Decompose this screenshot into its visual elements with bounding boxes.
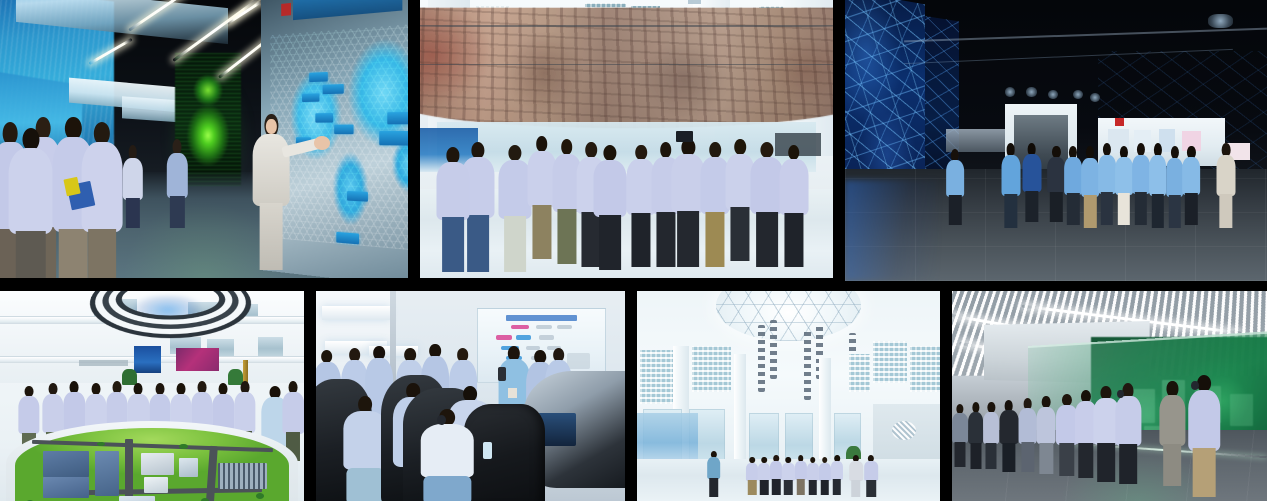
visitor [946,149,964,225]
audio-guide-headset [437,415,446,426]
visitor [864,455,878,497]
tour-guide [1216,143,1235,227]
screen-title-bar [506,315,578,320]
visitor [1022,143,1041,222]
visitor [819,457,831,495]
photo-bottom-1[interactable] [0,291,304,501]
visitor [831,455,843,495]
pillar [734,354,746,476]
visitor [593,145,626,270]
visitor [968,402,984,469]
visitor [1001,143,1020,227]
blue-display-banner [134,346,161,373]
visitor [1037,396,1056,474]
visitor [779,145,808,267]
visitor [795,455,807,495]
visitor [1115,146,1133,225]
audio-guide-headset [1191,381,1199,389]
ceiling-projector [1208,14,1233,28]
model-solar-field [218,463,267,489]
visitor [782,457,794,495]
visitor [1132,143,1150,224]
crystal-chandelier [758,325,765,392]
model-building [144,477,169,493]
model-building [119,496,155,501]
visitor [1188,375,1220,497]
exit-sign [1115,118,1123,126]
photo-collage [0,0,1267,501]
ceiling-spotlight [1048,90,1058,100]
simulator-seat[interactable] [464,404,544,501]
glass-curtain-wall [640,350,673,405]
glass-curtain-wall [873,341,906,383]
visitor [1018,398,1037,472]
photo-bottom-2[interactable] [316,291,625,501]
tour-guide [253,114,290,270]
visitor [1183,146,1201,225]
visitor [746,457,758,495]
magenta-led-screen[interactable] [176,348,219,371]
ceiling-spotlight [1090,93,1100,103]
visitor [1048,146,1066,222]
visitor [952,404,968,467]
crystal-chandelier [804,329,811,400]
photo-top-left[interactable] [0,0,408,278]
visitor [758,457,770,495]
visitor [807,457,819,495]
tour-guide [707,451,721,497]
visitor [770,455,782,495]
visitor-background [122,145,142,228]
microphone [498,367,505,382]
window-strip [258,337,282,356]
model-building [43,451,90,477]
visitor [1149,143,1167,227]
visitor [1166,146,1184,227]
model-building [43,477,90,498]
display-header-badge [281,2,291,16]
visitor [1116,383,1141,484]
model-building [95,451,120,496]
seated-visitor [421,409,474,501]
visitor [1160,381,1185,486]
visitor [1081,146,1099,227]
visitor [437,147,470,272]
glass-curtain-wall [849,354,870,392]
model-building [141,453,174,474]
wall-light-slot [322,306,390,321]
glass-curtain-wall [692,346,731,392]
photo-bottom-3[interactable] [637,291,940,501]
company-logo-icon [892,421,916,440]
glass-curtain-wall [910,346,940,392]
mural-support-rod [420,25,833,27]
visitor [1064,146,1082,225]
audio-guide-headset [1117,390,1123,398]
floor-blue-reflection [845,180,938,281]
crystal-chandelier [770,320,777,379]
camera-phone [676,131,693,142]
photo-top-center[interactable] [420,0,833,278]
visitor [999,400,1018,471]
water-bottle [483,442,492,459]
photo-top-right[interactable] [845,0,1267,281]
signage-strip [79,360,128,365]
photo-bottom-4[interactable] [952,291,1267,501]
visitor [849,455,863,497]
scale-model-landscape[interactable] [15,428,289,501]
visitor [1098,143,1116,224]
visitor-foreground [8,128,53,278]
visitor [984,402,1000,469]
lanyard-badge [508,388,517,399]
visitor-background [167,139,187,228]
model-building [179,458,198,477]
ceiling-spotlight [1026,87,1036,97]
